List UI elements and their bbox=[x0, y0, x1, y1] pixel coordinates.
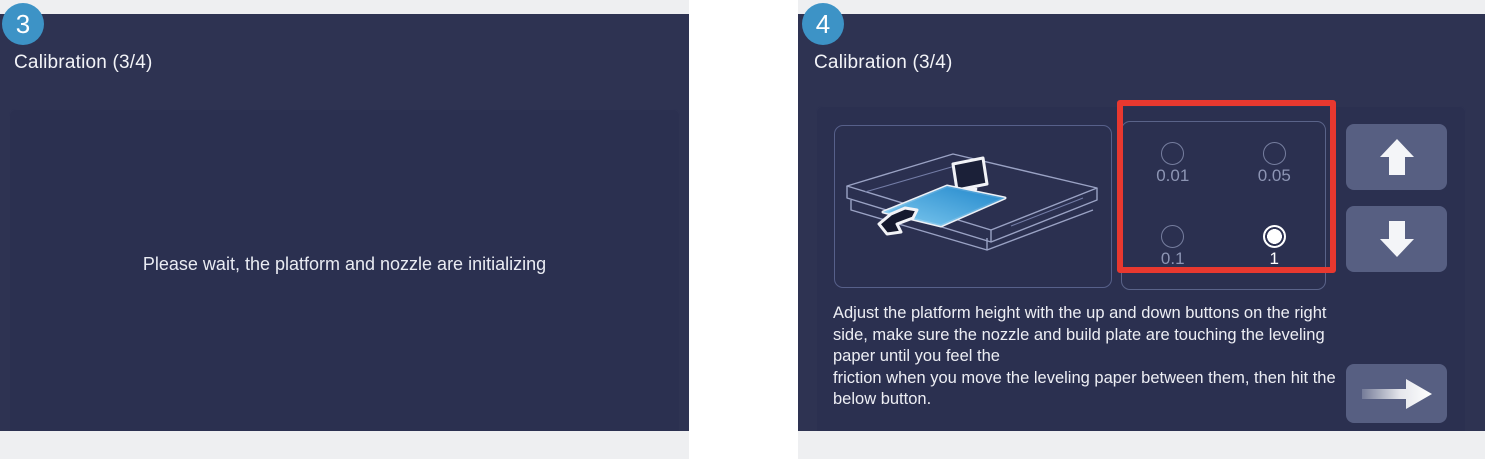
step-size-label: 0.01 bbox=[1156, 167, 1189, 186]
step-size-option-1[interactable]: 1 bbox=[1263, 225, 1286, 269]
device-bezel-top bbox=[0, 0, 689, 14]
page-title: Calibration (3/4) bbox=[814, 52, 953, 74]
initializing-message: Please wait, the platform and nozzle are… bbox=[9, 109, 680, 437]
radio-icon-unselected[interactable] bbox=[1161, 225, 1184, 248]
radio-icon-selected[interactable] bbox=[1263, 225, 1286, 248]
bed-leveling-illustration bbox=[834, 125, 1112, 288]
step-badge-4: 4 bbox=[802, 3, 844, 45]
step-size-radio-group[interactable]: 0.01 0.05 0.1 1 bbox=[1121, 121, 1326, 290]
step-size-label: 0.05 bbox=[1258, 167, 1291, 186]
right-arrow-icon bbox=[1360, 377, 1434, 411]
device-bezel-bottom bbox=[0, 431, 689, 459]
page-title: Calibration (3/4) bbox=[14, 52, 153, 74]
step-size-option-0.05[interactable]: 0.05 bbox=[1258, 142, 1291, 186]
step-size-label: 0.1 bbox=[1161, 250, 1185, 269]
up-arrow-icon bbox=[1375, 135, 1419, 179]
down-arrow-icon bbox=[1375, 217, 1419, 261]
device-screen-step-3: Please wait, the platform and nozzle are… bbox=[0, 14, 689, 431]
step-badge-3: 3 bbox=[2, 3, 44, 45]
device-bezel-top bbox=[798, 0, 1485, 14]
next-step-button[interactable] bbox=[1346, 364, 1447, 423]
status-card: Please wait, the platform and nozzle are… bbox=[9, 109, 680, 437]
device-screen-step-4: 0.01 0.05 0.1 1 bbox=[798, 14, 1485, 431]
calibration-card: 0.01 0.05 0.1 1 bbox=[816, 106, 1466, 440]
step-size-label: 1 bbox=[1270, 250, 1279, 269]
radio-icon-unselected[interactable] bbox=[1263, 142, 1286, 165]
instructions-text: Adjust the platform height with the up a… bbox=[833, 303, 1345, 411]
move-down-button[interactable] bbox=[1346, 206, 1447, 272]
device-bezel-bottom bbox=[798, 431, 1485, 459]
move-up-button[interactable] bbox=[1346, 124, 1447, 190]
radio-icon-unselected[interactable] bbox=[1161, 142, 1184, 165]
calibration-panel-step-4: 0.01 0.05 0.1 1 bbox=[798, 0, 1485, 459]
step-size-grid: 0.01 0.05 0.1 1 bbox=[1122, 122, 1325, 289]
step-size-option-0.01[interactable]: 0.01 bbox=[1156, 142, 1189, 186]
calibration-panel-step-3: Please wait, the platform and nozzle are… bbox=[0, 0, 689, 459]
step-size-option-0.1[interactable]: 0.1 bbox=[1161, 225, 1185, 269]
